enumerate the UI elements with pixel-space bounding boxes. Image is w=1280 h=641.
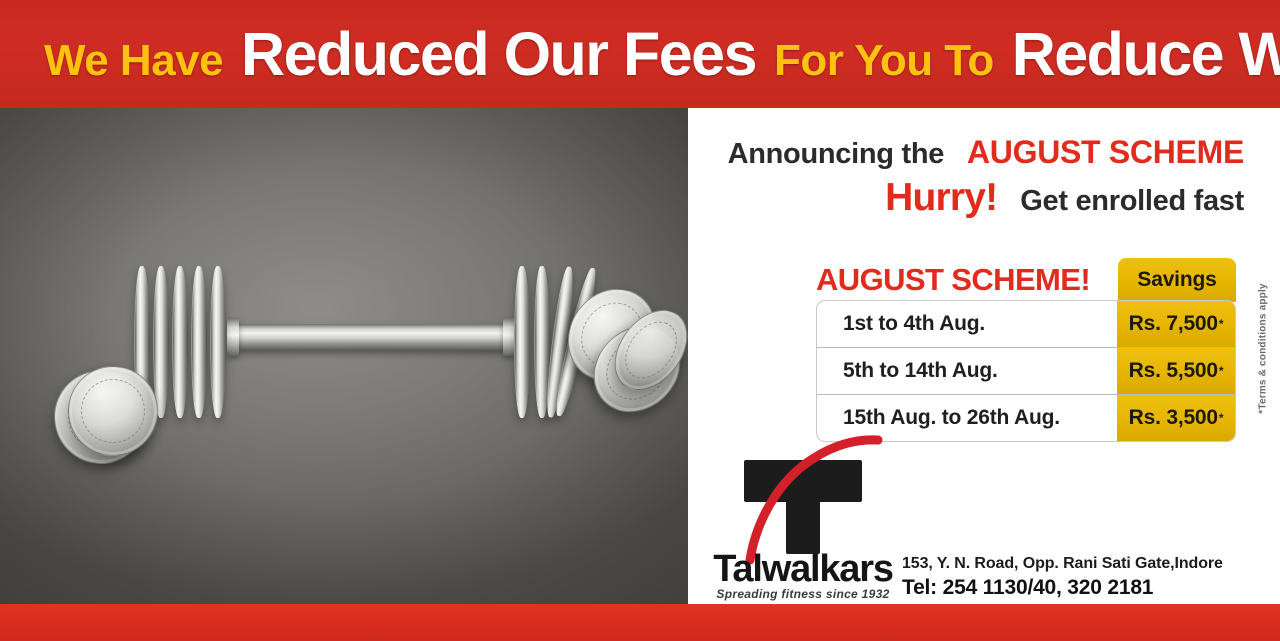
contact-telephone: Tel: 254 1130/40, 320 2181 — [902, 575, 1270, 601]
scheme-period: 5th to 14th Aug. — [817, 348, 1117, 394]
savings-column-header: Savings — [1118, 258, 1236, 302]
table-row: 5th to 14th Aug. Rs. 5,500* — [817, 348, 1235, 395]
headline-text: We Have Reduced Our Fees For You To Redu… — [44, 19, 1280, 89]
scheme-amount-value: Rs. 3,500 — [1129, 406, 1218, 430]
headline-part-1: We Have — [44, 36, 223, 85]
logo-tagline: Spreading fitness since 1932 — [698, 587, 908, 601]
scheme-amount-value: Rs. 7,500 — [1129, 312, 1218, 336]
headline-part-3: For You To — [774, 36, 994, 85]
footnote-star: * — [1219, 364, 1223, 378]
scheme-savings-amount: Rs. 5,500* — [1117, 348, 1235, 394]
scheme-savings-amount: Rs. 7,500* — [1117, 301, 1235, 347]
scheme-table-block: AUGUST SCHEME! Savings 1st to 4th Aug. R… — [816, 256, 1236, 442]
contact-address: 153, Y. N. Road, Opp. Rani Sati Gate,Ind… — [902, 552, 1270, 575]
photo-vignette — [0, 108, 688, 604]
scheme-period: 15th Aug. to 26th Aug. — [817, 395, 1117, 441]
brand-logo: Talwalkars Spreading fitness since 1932 — [698, 444, 908, 594]
scheme-table: 1st to 4th Aug. Rs. 7,500* 5th to 14th A… — [816, 300, 1236, 442]
announcement-cta: Get enrolled fast — [1020, 185, 1244, 217]
logo-mark — [698, 444, 908, 544]
announcement-hurry: Hurry! — [885, 176, 997, 219]
product-photo-panel — [0, 108, 688, 604]
scheme-amount-value: Rs. 5,500 — [1129, 359, 1218, 383]
terms-and-conditions-note: *Terms & conditions apply — [1254, 258, 1272, 438]
footnote-star: * — [1219, 317, 1223, 331]
announcement-lead: Announcing the — [728, 138, 945, 170]
swoosh-icon — [738, 438, 888, 562]
scheme-table-header: AUGUST SCHEME! Savings — [816, 256, 1236, 300]
bottom-accent-bar — [0, 604, 1280, 641]
headline-banner: We Have Reduced Our Fees For You To Redu… — [0, 0, 1280, 108]
offer-content-panel: Announcing the AUGUST SCHEME Hurry! Get … — [688, 108, 1280, 604]
logo-brand-name: Talwalkars — [698, 548, 908, 591]
table-row: 15th Aug. to 26th Aug. Rs. 3,500* — [817, 395, 1235, 441]
scheme-period: 1st to 4th Aug. — [817, 301, 1117, 347]
headline-part-4: Reduce Weight — [1012, 20, 1280, 88]
footnote-star: * — [1219, 411, 1223, 425]
headline-part-2: Reduced Our Fees — [241, 20, 756, 88]
announcement-line-2: Hurry! Get enrolled fast — [688, 178, 1244, 217]
announcement-line-1: Announcing the AUGUST SCHEME — [688, 136, 1244, 169]
contact-block: 153, Y. N. Road, Opp. Rani Sati Gate,Ind… — [902, 552, 1270, 601]
advertisement-banner: We Have Reduced Our Fees For You To Redu… — [0, 0, 1280, 641]
announcement-scheme-name: AUGUST SCHEME — [967, 134, 1244, 170]
scheme-savings-amount: Rs. 3,500* — [1117, 395, 1235, 441]
announcement-block: Announcing the AUGUST SCHEME Hurry! Get … — [688, 136, 1268, 217]
terms-text: *Terms & conditions apply — [1258, 283, 1269, 413]
table-row: 1st to 4th Aug. Rs. 7,500* — [817, 301, 1235, 348]
scheme-title: AUGUST SCHEME! — [816, 262, 1090, 298]
